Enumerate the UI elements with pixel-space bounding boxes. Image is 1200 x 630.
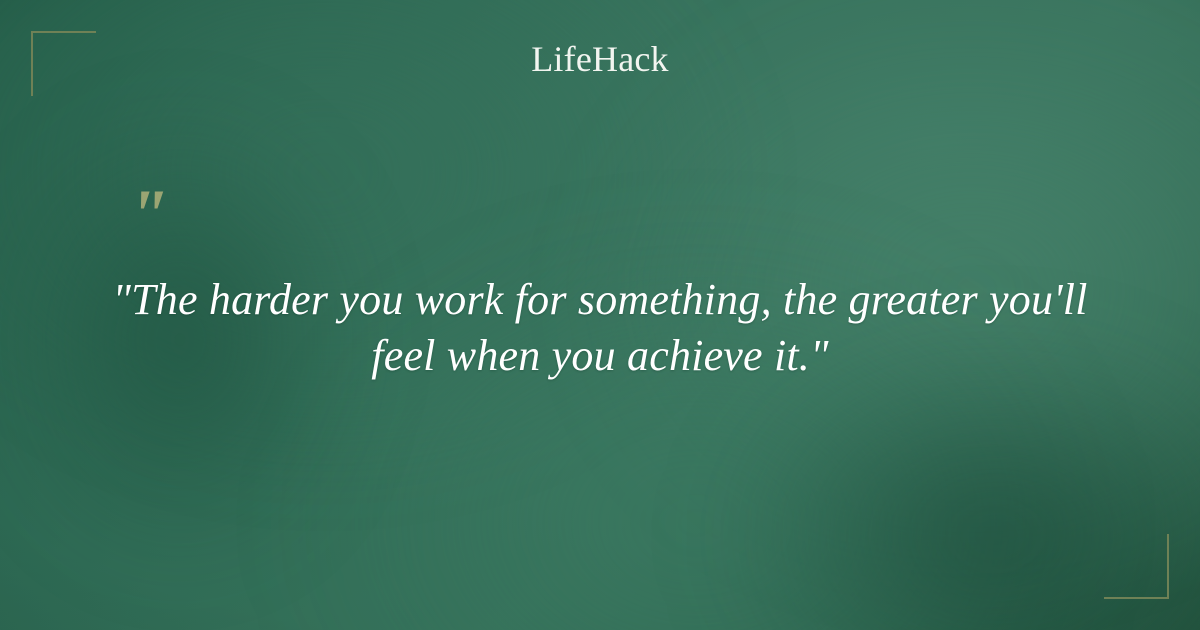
brand-logo: LifeHack — [0, 41, 1200, 79]
quote-block: " "The harder you work for something, th… — [100, 190, 1100, 385]
quote-card: LifeHack " "The harder you work for some… — [0, 0, 1200, 630]
quotation-mark-icon: " — [128, 190, 1100, 242]
quote-text: "The harder you work for something, the … — [100, 272, 1100, 385]
corner-bracket-bottom-right-icon — [1104, 534, 1169, 599]
